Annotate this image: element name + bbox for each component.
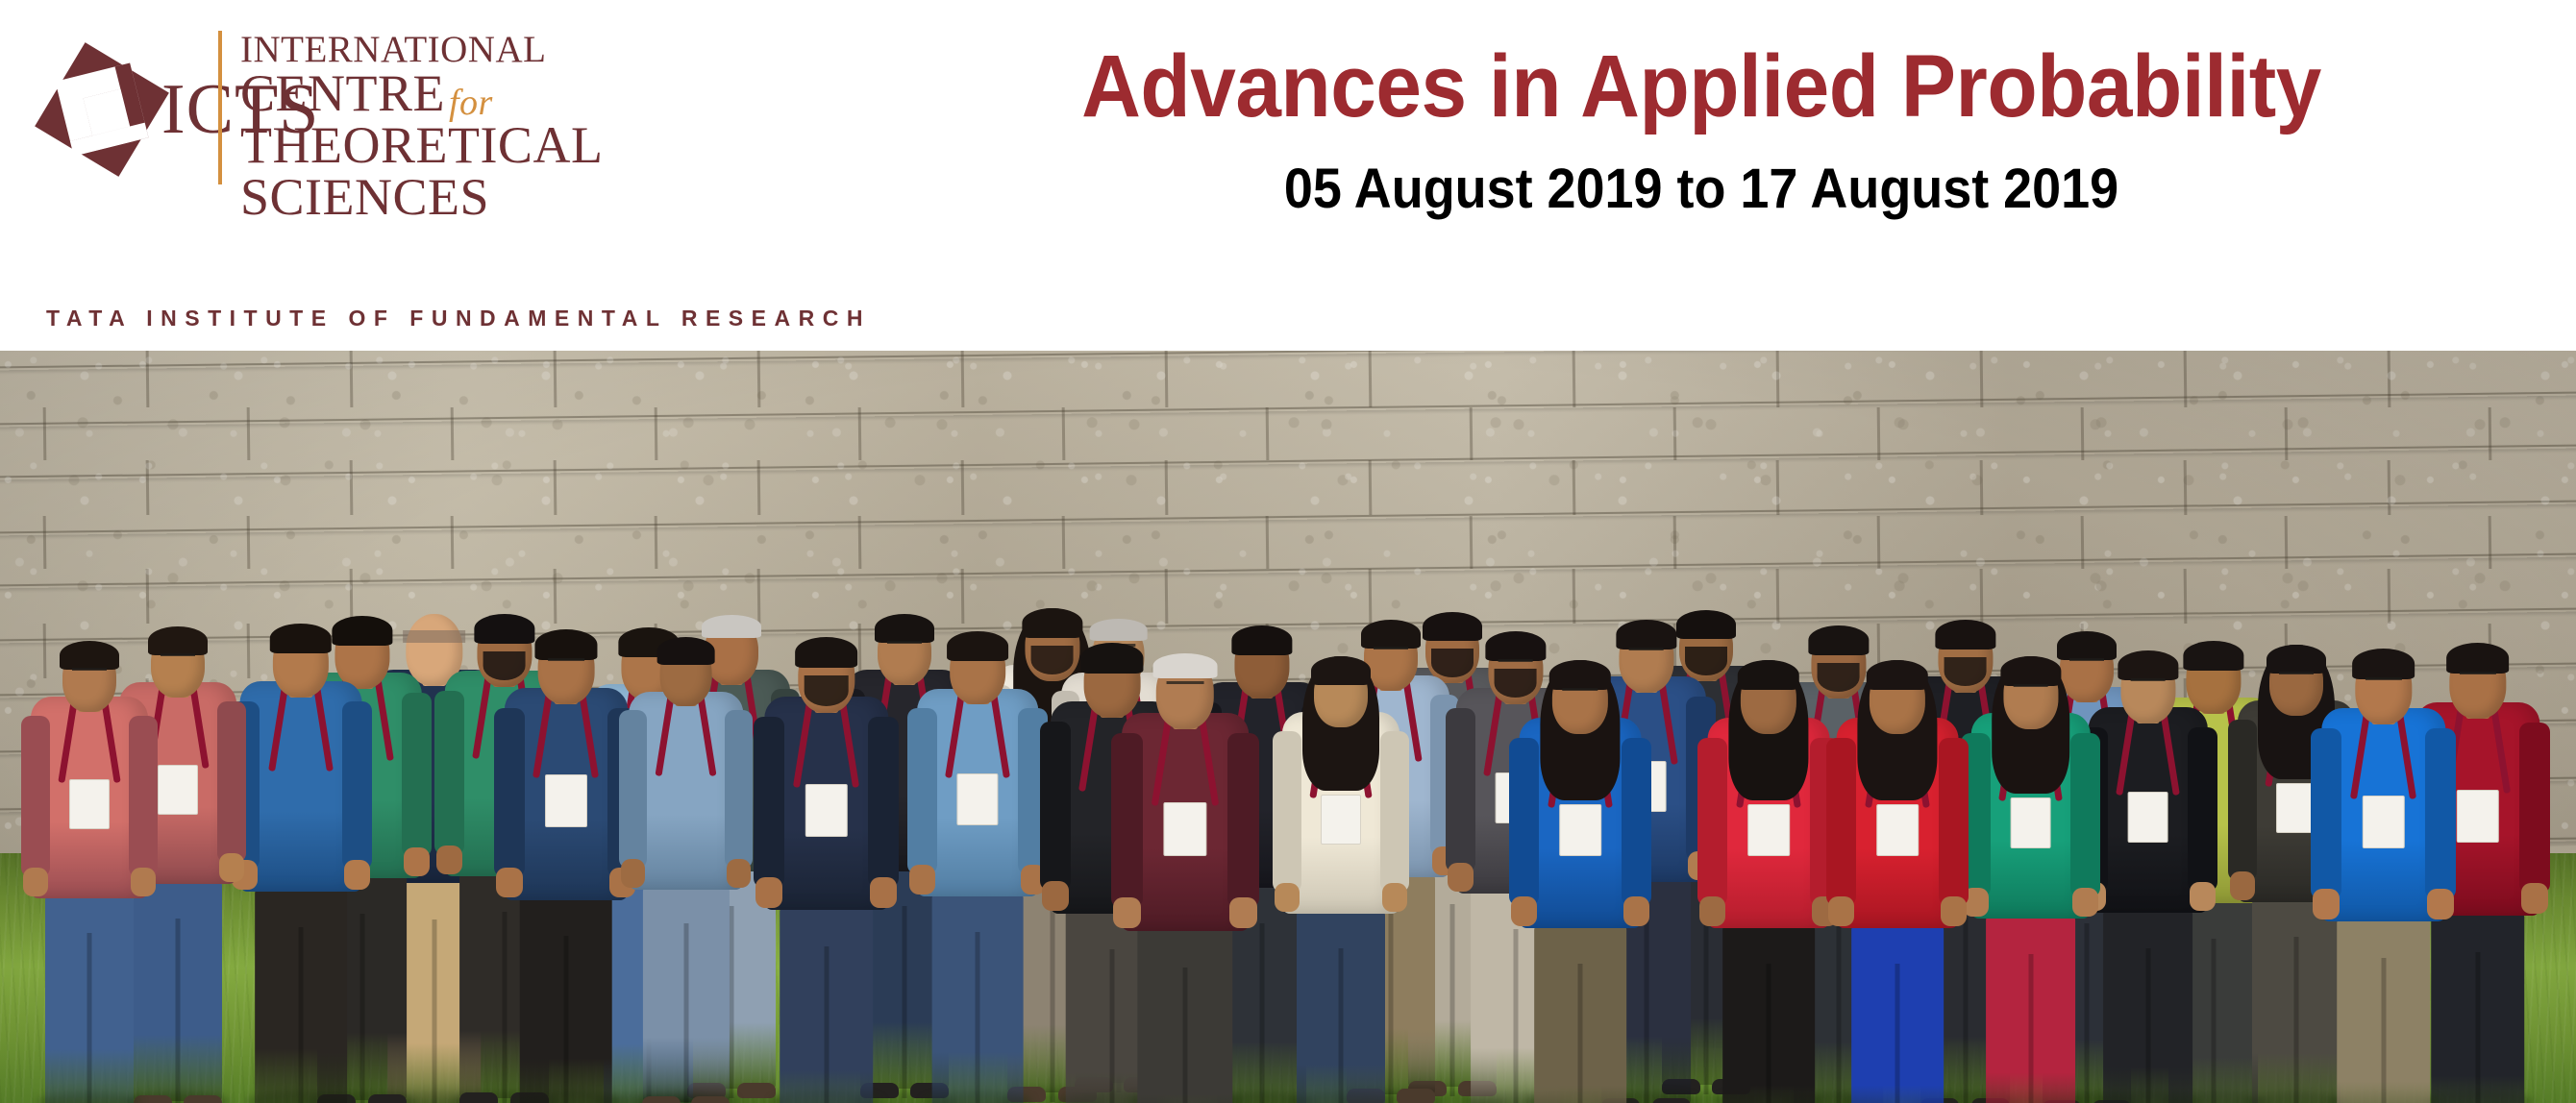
group-photo bbox=[0, 351, 2576, 1103]
person-arm-right bbox=[402, 693, 432, 857]
person-figure bbox=[17, 639, 161, 1103]
person-hand-left bbox=[909, 865, 935, 895]
person-badge bbox=[1876, 804, 1919, 856]
institute-line: TATA INSTITUTE OF FUNDAMENTAL RESEARCH bbox=[46, 306, 871, 331]
person-arm-right bbox=[2519, 723, 2550, 894]
page-title: Advances in Applied Probability bbox=[905, 40, 2496, 134]
person-arm-right bbox=[1227, 733, 1258, 907]
person-arm-left bbox=[2311, 728, 2341, 899]
person-hand-left bbox=[496, 868, 522, 898]
person-shoe-left bbox=[642, 1096, 680, 1103]
person-badge bbox=[2456, 790, 2498, 843]
person-hand-right bbox=[1229, 897, 1256, 928]
person-glasses-icon bbox=[2013, 684, 2048, 694]
person-arm-left bbox=[754, 717, 784, 888]
person-badge bbox=[1163, 802, 1206, 856]
person-leg-gap bbox=[824, 946, 829, 1103]
person-arm-right bbox=[1622, 738, 1651, 906]
person-glasses-icon bbox=[1628, 648, 1664, 657]
person-figure bbox=[1694, 658, 1844, 1103]
person-hand-left bbox=[436, 846, 462, 875]
person-arm-left bbox=[907, 708, 937, 874]
person-hair bbox=[947, 631, 1008, 661]
person-glasses-icon bbox=[2130, 678, 2166, 688]
person-leg-gap bbox=[1895, 964, 1900, 1103]
person-arm-left bbox=[1273, 731, 1301, 893]
person-leg-gap bbox=[1767, 964, 1771, 1103]
person-figure bbox=[904, 629, 1053, 1103]
person-hand-left bbox=[1699, 896, 1725, 926]
icts-wordmark: INTERNATIONAL CENTREfor THEORETICAL SCIE… bbox=[240, 23, 740, 196]
person-hair bbox=[1311, 656, 1371, 685]
person-glasses-icon bbox=[1562, 688, 1598, 698]
person-badge bbox=[545, 774, 587, 827]
person-hand-right bbox=[1623, 896, 1649, 926]
person-badge bbox=[1559, 804, 1601, 856]
person-hand-right bbox=[219, 853, 244, 882]
person-figure bbox=[1269, 654, 1413, 1103]
event-title-block: Advances in Applied Probability 05 Augus… bbox=[846, 23, 2557, 311]
person-badge bbox=[2010, 797, 2051, 848]
person-figure bbox=[1957, 654, 2104, 1103]
wordmark-line-centre: CENTREfor bbox=[240, 67, 493, 119]
person-arm-right bbox=[129, 716, 158, 877]
person-hair bbox=[2118, 650, 2178, 680]
person-arm-left bbox=[1697, 738, 1727, 906]
person-glasses-icon bbox=[548, 658, 584, 668]
person-leg-gap bbox=[299, 927, 304, 1103]
person-arm-left bbox=[619, 710, 647, 869]
person-figure bbox=[1107, 650, 1263, 1103]
person-hair bbox=[1935, 620, 1995, 650]
person-arm-left bbox=[21, 716, 50, 877]
person-hand-left bbox=[1113, 897, 1140, 928]
person-badge bbox=[69, 779, 110, 829]
person-arm-left bbox=[1826, 738, 1856, 906]
person-glasses-icon bbox=[2365, 677, 2401, 687]
person-arm-left bbox=[2228, 720, 2257, 881]
person-hair bbox=[656, 637, 715, 665]
person-hand-left bbox=[755, 877, 782, 908]
logo-divider bbox=[218, 31, 222, 184]
person-figure bbox=[1822, 658, 1972, 1103]
person-arm-right bbox=[217, 701, 246, 863]
person-leg-gap bbox=[2475, 952, 2480, 1103]
person-hair bbox=[1361, 620, 1421, 649]
person-figure bbox=[615, 635, 756, 1103]
person-hair-grey bbox=[1089, 619, 1148, 642]
icts-logo-block: ICTS INTERNATIONAL CENTREfor THEORETICAL… bbox=[17, 23, 834, 191]
person-glasses-icon bbox=[161, 653, 195, 663]
person-arm-right bbox=[868, 717, 899, 888]
person-hair-grey bbox=[1153, 653, 1218, 678]
event-dates: 05 August 2019 to 17 August 2019 bbox=[905, 159, 2496, 220]
person-figure bbox=[750, 635, 903, 1103]
person-hand-left bbox=[621, 859, 645, 887]
person-hand-left bbox=[1448, 863, 1474, 893]
person-shoe-right bbox=[1652, 1098, 1692, 1103]
person-leg-gap bbox=[976, 932, 980, 1103]
person-hand-right bbox=[727, 859, 751, 887]
person-hand-right bbox=[870, 877, 897, 908]
person-badge bbox=[957, 773, 999, 825]
person-leg-gap bbox=[2028, 954, 2033, 1103]
person-hair bbox=[2000, 656, 2061, 686]
wordmark-line-sciences: SCIENCES bbox=[240, 171, 489, 223]
person-hair bbox=[1738, 660, 1799, 690]
person-badge bbox=[158, 765, 198, 815]
person-hair bbox=[1549, 660, 1611, 690]
person-hand-right bbox=[1941, 896, 1967, 926]
icts-diamond-logo-icon bbox=[29, 37, 175, 183]
wordmark-line-theoretical: THEORETICAL bbox=[240, 119, 603, 171]
person-leg-gap bbox=[87, 933, 92, 1103]
person-hair bbox=[270, 624, 332, 653]
person-figure bbox=[2307, 647, 2460, 1103]
person-leg-gap bbox=[2145, 948, 2150, 1103]
person-glasses-icon bbox=[2459, 672, 2495, 681]
person-badge bbox=[2362, 796, 2404, 848]
person-hair bbox=[795, 637, 858, 668]
person-beard bbox=[804, 675, 849, 706]
people-group bbox=[0, 351, 2576, 1103]
person-hand-right bbox=[2521, 883, 2548, 914]
person-hand-left bbox=[1042, 881, 1068, 912]
person-arm-left bbox=[434, 691, 464, 855]
person-arm-left bbox=[1111, 733, 1142, 907]
person-glasses-icon bbox=[1167, 681, 1204, 691]
person-leg-gap bbox=[2294, 937, 2299, 1103]
person-hand-right bbox=[1382, 883, 1407, 912]
person-arm-right bbox=[2425, 728, 2456, 899]
person-hair bbox=[60, 641, 119, 670]
person-arm-right bbox=[1939, 738, 1969, 906]
person-hand-left bbox=[2230, 871, 2255, 900]
person-arm-right bbox=[1380, 731, 1409, 893]
person-hand-left bbox=[23, 868, 48, 896]
person-hand-right bbox=[344, 860, 370, 890]
person-leg-gap bbox=[563, 936, 568, 1103]
person-hand-right bbox=[2427, 889, 2454, 919]
person-badge bbox=[805, 784, 847, 837]
person-arm-left bbox=[1446, 708, 1475, 872]
person-hair bbox=[534, 629, 597, 660]
person-leg-gap bbox=[1183, 968, 1188, 1103]
person-hair bbox=[2352, 649, 2415, 679]
person-badge bbox=[1321, 795, 1361, 845]
person-leg-gap bbox=[1339, 948, 1344, 1103]
person-hand-left bbox=[1275, 883, 1300, 912]
wordmark-line-international: INTERNATIONAL bbox=[240, 31, 546, 68]
person-leg-gap bbox=[176, 919, 181, 1103]
person-arm-left bbox=[1040, 722, 1071, 891]
person-hand-left bbox=[1511, 896, 1537, 926]
person-hand-right bbox=[2072, 888, 2098, 918]
person-arm-right bbox=[725, 710, 753, 869]
person-arm-left bbox=[494, 708, 525, 877]
person-badge bbox=[1747, 804, 1790, 856]
person-badge bbox=[2127, 792, 2168, 843]
person-hair bbox=[1867, 660, 1928, 690]
person-hand-left bbox=[2313, 889, 2340, 919]
person-figure bbox=[1505, 658, 1655, 1103]
poster-banner: ICTS INTERNATIONAL CENTREfor THEORETICAL… bbox=[0, 0, 2576, 1103]
header-band: ICTS INTERNATIONAL CENTREfor THEORETICAL… bbox=[0, 0, 2576, 351]
person-arm-right bbox=[2070, 733, 2100, 897]
person-glasses-icon bbox=[72, 668, 107, 677]
person-hand-left bbox=[1828, 896, 1854, 926]
person-leg-gap bbox=[683, 923, 688, 1103]
person-leg-gap bbox=[2381, 958, 2386, 1103]
person-hand-right bbox=[404, 847, 430, 877]
person-shoe-right bbox=[184, 1095, 222, 1103]
person-hand-right bbox=[2190, 882, 2216, 912]
person-arm-right bbox=[2188, 727, 2217, 892]
person-hair bbox=[1808, 625, 1869, 655]
person-leg-gap bbox=[1578, 964, 1583, 1103]
person-arm-right bbox=[342, 701, 372, 870]
person-arm-left bbox=[1509, 738, 1539, 906]
wordmark-centre-text: CENTRE bbox=[240, 64, 445, 122]
person-hair bbox=[1485, 631, 1546, 661]
person-shoe-right bbox=[691, 1096, 729, 1103]
person-hand-right bbox=[131, 868, 156, 896]
person-hair bbox=[1616, 620, 1676, 650]
